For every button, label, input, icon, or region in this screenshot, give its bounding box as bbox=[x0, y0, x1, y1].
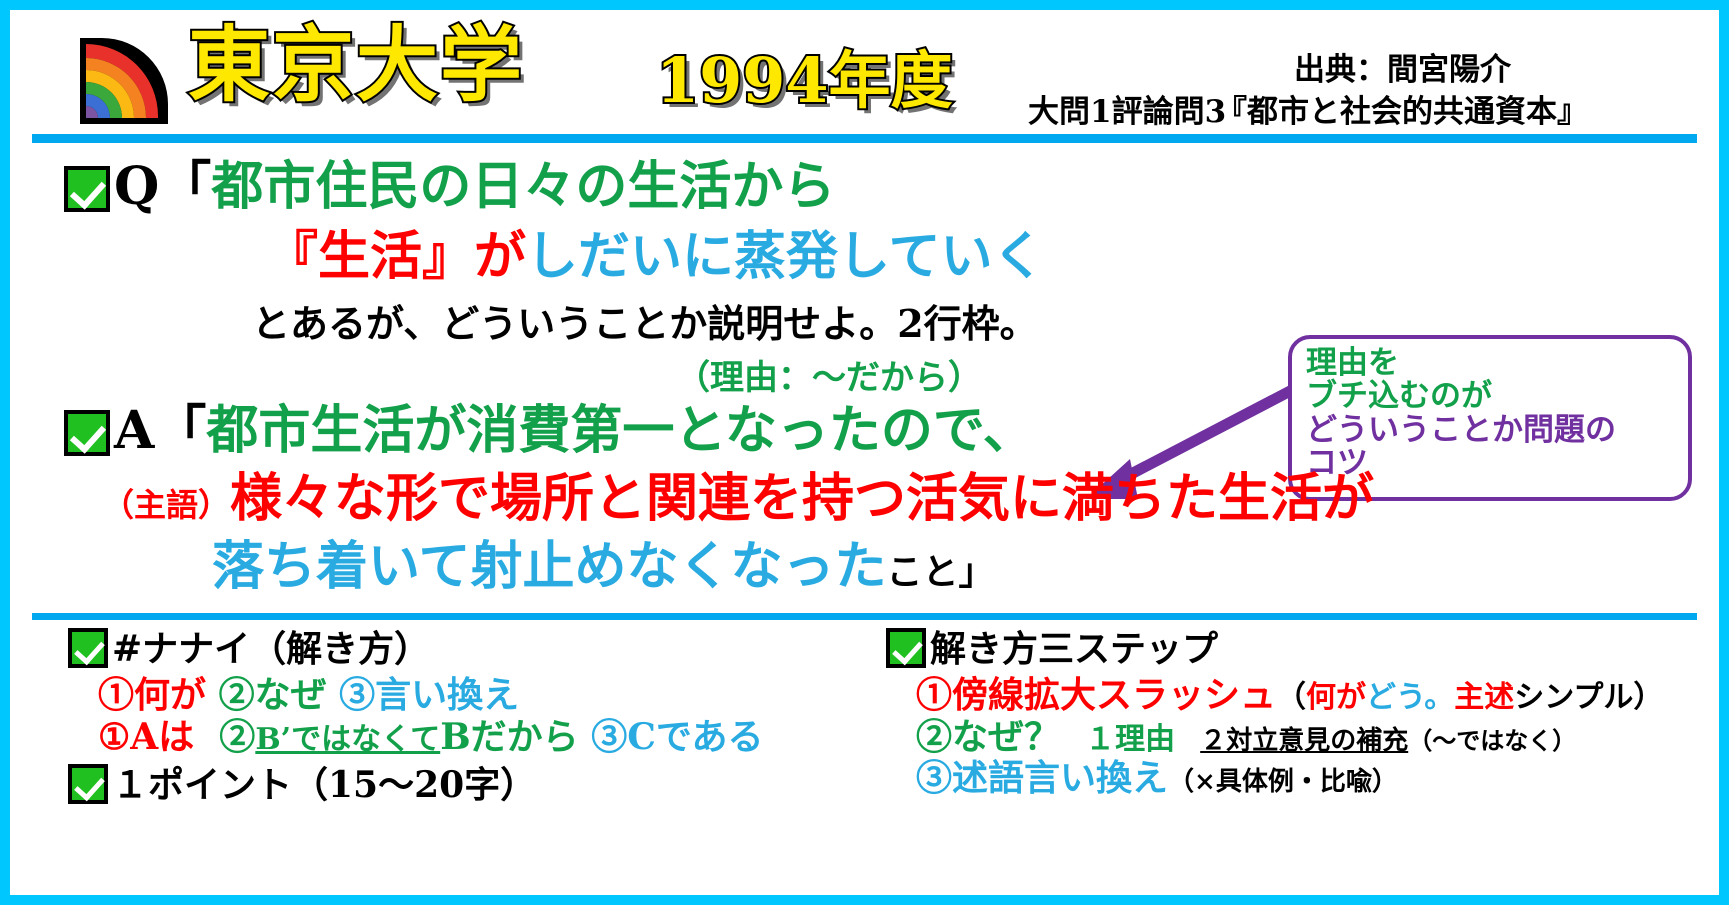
question-line-2: 『生活』がしだいに蒸発していく bbox=[266, 231, 1044, 283]
step-1-note-c: 主述 bbox=[1454, 680, 1514, 715]
nanai-3-text: 言い換え bbox=[375, 674, 519, 716]
nanai-row-2: ①Aは ②B’ではなくてBだから ③Cである bbox=[98, 717, 764, 759]
answer-line1-text: 都市生活が消費第一となったので、 bbox=[206, 400, 1034, 461]
step-3-num: ③ bbox=[916, 757, 952, 799]
nanai-2-num: ② bbox=[219, 674, 255, 716]
source-title: 『都市と社会的共通資本』 bbox=[1216, 86, 1588, 131]
question-reason-note: （理由：～だから） bbox=[676, 361, 982, 395]
divider-top bbox=[32, 134, 1697, 143]
footer-right-column: 解き方三ステップ ①傍線拡大スラッシュ（何がどう。主述シンプル） ②なぜ？ １理… bbox=[886, 628, 1663, 800]
slide-canvas: 東京大学 1994年度 大問1評論問3 出典：間宮陽介 『都市と社会的共通資本』… bbox=[0, 0, 1729, 905]
check-icon-answer bbox=[64, 410, 110, 456]
footer-section: #ナナイ（解き方） ①何が ②なぜ ③言い換え ①Aは ②B’ではなくてBだから… bbox=[16, 620, 1713, 820]
point-heading: １ポイント（15～20字） bbox=[112, 764, 536, 806]
step-3-note: （×具体例・比喩） bbox=[1168, 767, 1398, 797]
nanai-heading-row: #ナナイ（解き方） bbox=[68, 628, 764, 671]
point-heading-row: １ポイント（15～20字） bbox=[68, 764, 764, 807]
answer-line2-text: 様々な形で場所と関連を持つ活気に満ちた生活が bbox=[230, 468, 1374, 529]
steps-heading-row: 解き方三ステップ bbox=[886, 628, 1663, 671]
answer-line-3: 落ち着いて射止めなくなったこと」 bbox=[212, 541, 994, 593]
nanai-ex-3-num: ③ bbox=[591, 716, 627, 758]
callout-line-2: ブチ込むのが bbox=[1306, 380, 1678, 413]
nanai-ex-2-num: ② bbox=[219, 716, 255, 758]
answer-line3-black: こと」 bbox=[886, 551, 994, 593]
callout-line-3: どういうことか問題の bbox=[1306, 414, 1678, 447]
callout-line-1: 理由を bbox=[1306, 347, 1678, 380]
nanai-1-num: ① bbox=[98, 674, 134, 716]
step-3-row: ③述語言い換え（×具体例・比喩） bbox=[916, 758, 1663, 800]
nanai-2-text: なぜ bbox=[255, 674, 327, 716]
divider-bottom bbox=[32, 613, 1697, 620]
answer-line-2: （主語）様々な形で場所と関連を持つ活気に満ちた生活が bbox=[102, 473, 1374, 525]
slide-inner: 東京大学 1994年度 大問1評論問3 出典：間宮陽介 『都市と社会的共通資本』… bbox=[10, 10, 1719, 895]
check-icon-steps bbox=[886, 628, 926, 668]
step-2-num: ② bbox=[916, 716, 952, 758]
source-author: 出典：間宮陽介 bbox=[1294, 44, 1511, 89]
question-marker: Q bbox=[114, 156, 159, 217]
nanai-3-num: ③ bbox=[339, 674, 375, 716]
question-instruction: とあるが、どういうことか説明せよ。2行枠。 bbox=[252, 305, 1038, 343]
nanai-ex-2-text-b: Bだから bbox=[440, 716, 578, 758]
nanai-1-text: 何が bbox=[134, 674, 206, 716]
step-1-note-b: どう。 bbox=[1366, 680, 1454, 715]
question-line-1: Q「都市住民の日々の生活から bbox=[64, 161, 835, 213]
step-3-text: 述語言い換え bbox=[952, 757, 1168, 799]
step-1-num: ① bbox=[916, 674, 952, 716]
question-open-quote: 「 bbox=[159, 156, 211, 217]
step-1-text: 傍線拡大スラッシュ bbox=[952, 674, 1276, 716]
step-2-sub-2: ２対立意見の補充 bbox=[1200, 726, 1408, 756]
step-2-sub-3: （～ではなく） bbox=[1408, 726, 1576, 755]
nanai-heading: #ナナイ（解き方） bbox=[112, 628, 430, 670]
steps-heading: 解き方三ステップ bbox=[930, 628, 1218, 670]
rainbow-arc-icon bbox=[68, 30, 178, 128]
step-2-sub-1: １理由 bbox=[1085, 722, 1175, 757]
step-1-note-d: シンプル bbox=[1514, 680, 1633, 715]
answer-line-1: A「都市生活が消費第一となったので、 bbox=[64, 405, 1035, 457]
nanai-ex-3-text: Cである bbox=[627, 716, 763, 758]
nanai-row-1: ①何が ②なぜ ③言い換え bbox=[98, 675, 764, 717]
answer-line3-cyan: 落ち着いて射止めなくなった bbox=[212, 536, 886, 597]
nanai-ex-1-text: Aは bbox=[130, 716, 194, 758]
footer-left-column: #ナナイ（解き方） ①何が ②なぜ ③言い換え ①Aは ②B’ではなくてBだから… bbox=[68, 628, 764, 811]
nanai-ex-2-text-a: B’ではなくて bbox=[255, 722, 440, 757]
step-2-text: なぜ？ bbox=[952, 716, 1060, 758]
university-title: 東京大学 bbox=[188, 24, 524, 106]
body-section: Q「都市住民の日々の生活から 『生活』がしだいに蒸発していく とあるが、どういう… bbox=[16, 143, 1713, 613]
nanai-ex-1-num: ① bbox=[98, 716, 130, 758]
question-line2-red: 『生活』が bbox=[266, 226, 526, 287]
question-line1-text: 都市住民の日々の生活から bbox=[211, 156, 835, 217]
header: 東京大学 1994年度 大問1評論問3 出典：間宮陽介 『都市と社会的共通資本』 bbox=[16, 16, 1713, 134]
check-icon-point bbox=[68, 764, 108, 804]
step-1-note-a: 何が bbox=[1306, 680, 1366, 715]
check-icon-nanai bbox=[68, 628, 108, 668]
step-1-row: ①傍線拡大スラッシュ（何がどう。主述シンプル） bbox=[916, 675, 1663, 717]
check-icon-question bbox=[64, 166, 110, 212]
question-line2-cyan: しだいに蒸発していく bbox=[526, 226, 1044, 287]
answer-subject-tag: （主語） bbox=[102, 486, 230, 524]
answer-marker: A bbox=[114, 400, 154, 461]
answer-open-quote: 「 bbox=[154, 400, 206, 461]
step-1-note-open: （ bbox=[1276, 680, 1306, 715]
question-reference: 大問1評論問3 bbox=[1028, 86, 1226, 131]
step-2-row: ②なぜ？ １理由 ２対立意見の補充（～ではなく） bbox=[916, 717, 1663, 759]
step-1-note-close: ） bbox=[1633, 680, 1663, 715]
year-title: 1994年度 bbox=[656, 50, 953, 112]
